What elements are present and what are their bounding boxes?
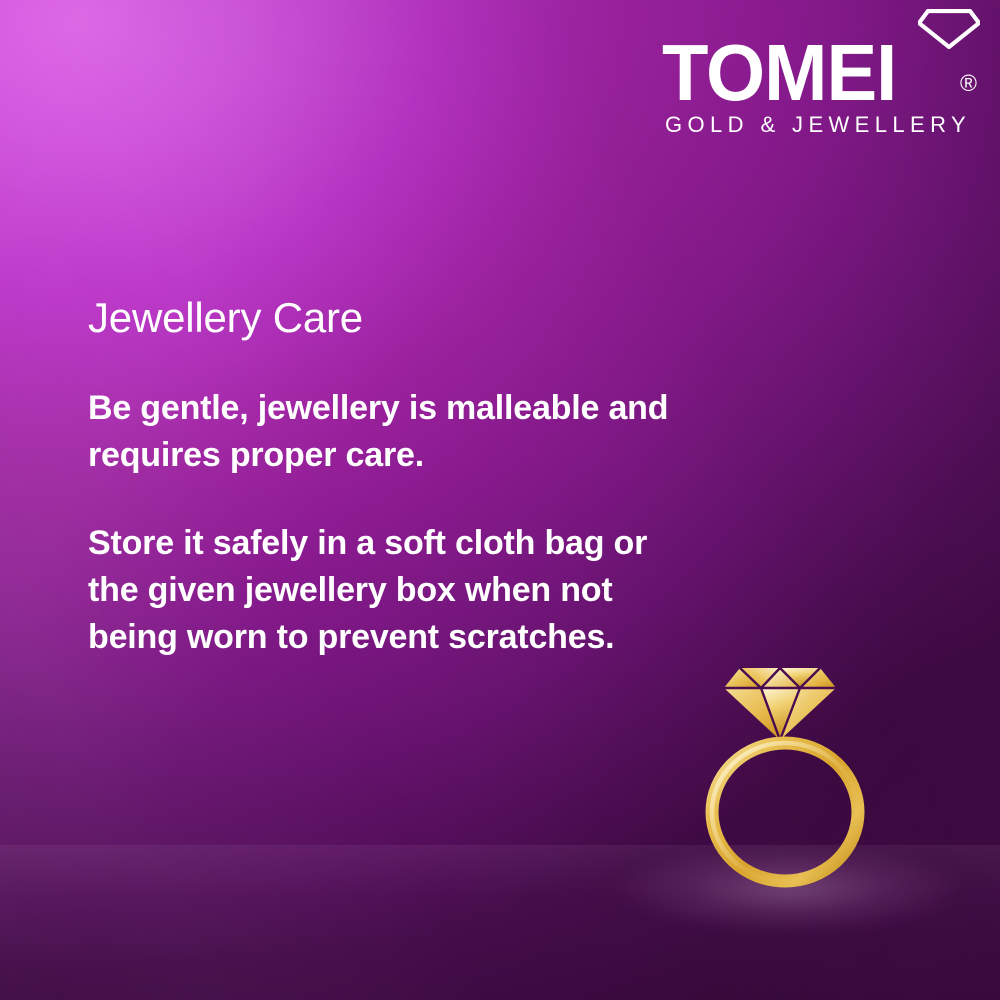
registered-mark: ® — [960, 72, 977, 95]
diamond-ring-illustration — [690, 640, 890, 900]
care-paragraph-1: Be gentle, jewellery is malleable and re… — [88, 385, 688, 479]
brand-name: TOMEI — [662, 34, 896, 114]
ring-band-icon — [712, 743, 858, 881]
diamond-gem-icon — [724, 668, 836, 740]
brand-tagline: GOLD & JEWELLERY — [665, 113, 971, 137]
brand-logo: TOMEI ® GOLD & JEWELLERY — [660, 6, 990, 146]
care-paragraph-2: Store it safely in a soft cloth bag or t… — [88, 520, 688, 661]
page-title: Jewellery Care — [88, 293, 363, 343]
poster-canvas: TOMEI ® GOLD & JEWELLERY Jewellery Care … — [0, 0, 1000, 1000]
diamond-outline-icon — [918, 9, 980, 49]
